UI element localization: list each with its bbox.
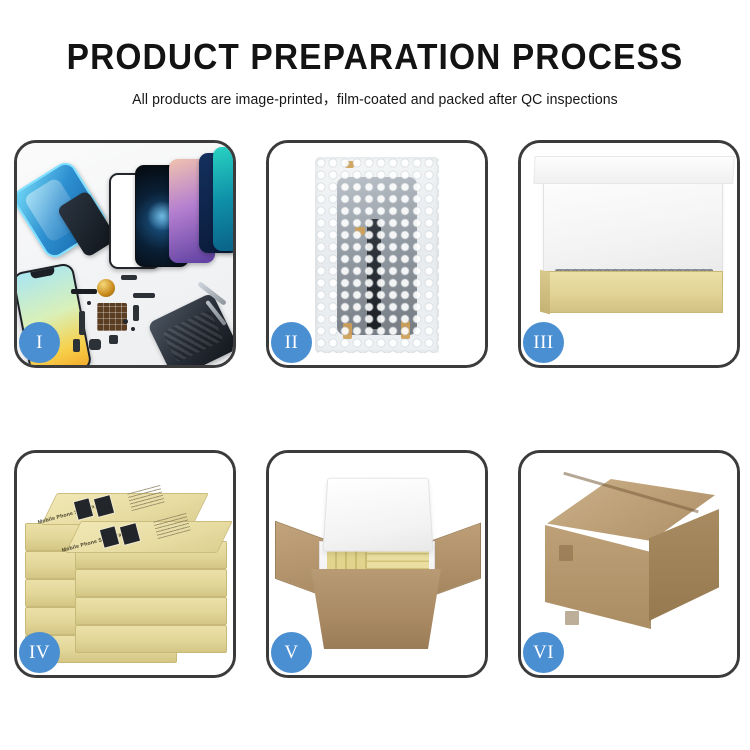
- flex-cable-4: [121, 275, 137, 280]
- flex-cable-3: [133, 305, 139, 321]
- box-stack: Mobile Phone Spare Parts Mobile Phone Sp…: [25, 471, 231, 663]
- flex-bar-part: [71, 289, 97, 294]
- flex-cable-2: [133, 293, 155, 298]
- step-panel-3: III: [518, 140, 740, 368]
- product-preparation-page: PRODUCT PREPARATION PROCESS All products…: [0, 0, 750, 750]
- small-chip-part: [109, 335, 118, 344]
- page-title: PRODUCT PREPARATION PROCESS: [26, 38, 724, 76]
- stacked-box-r3: [75, 597, 227, 625]
- teal-phone: [213, 147, 233, 251]
- step-badge-4: IV: [19, 632, 60, 673]
- speaker-part: [89, 339, 101, 350]
- carton-front-face: [545, 525, 651, 629]
- step-badge-3: III: [523, 322, 564, 363]
- step-panel-4: Mobile Phone Spare Parts Mobile Phone Sp…: [14, 450, 236, 678]
- carton-body: [311, 569, 441, 649]
- screw-3: [87, 301, 91, 305]
- bubble-wrap-bag: [315, 157, 439, 353]
- step-badge-5: V: [271, 632, 312, 673]
- stacked-box-r2: [75, 569, 227, 597]
- top-box-lid-2: [65, 521, 233, 553]
- copper-coil-part: [97, 279, 115, 297]
- foam-box-lid: [322, 478, 433, 552]
- carton-tab-upper: [559, 545, 573, 561]
- step-panel-6: VI: [518, 450, 740, 678]
- flex-cable-1: [79, 311, 85, 335]
- process-step-grid: I II I: [14, 140, 736, 678]
- screw-2: [131, 327, 135, 331]
- yellow-box-base: [545, 271, 723, 313]
- step-panel-5: V: [266, 450, 488, 678]
- page-header: PRODUCT PREPARATION PROCESS All products…: [0, 0, 750, 109]
- screw-1: [123, 319, 128, 324]
- step-badge-2: II: [271, 322, 312, 363]
- step-panel-1: I: [14, 140, 236, 368]
- step-badge-6: VI: [523, 632, 564, 673]
- stacked-box-r4: [75, 625, 227, 653]
- chip-grid-part: [97, 303, 127, 331]
- bubble-texture: [315, 157, 439, 353]
- white-foam-lid: [543, 161, 723, 279]
- page-subtitle: All products are image-printed，film-coat…: [11, 88, 739, 109]
- sim-tray-part: [73, 339, 80, 352]
- step-panel-2: II: [266, 140, 488, 368]
- carton-tab-lower: [565, 611, 579, 625]
- step-badge-1: I: [19, 322, 60, 363]
